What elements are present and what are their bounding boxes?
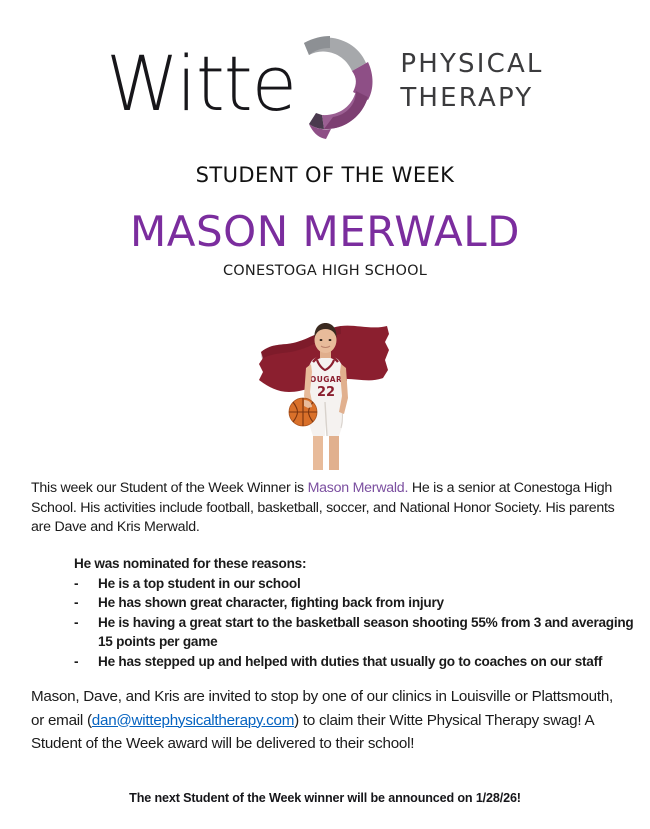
jersey-number: 22 — [317, 385, 335, 400]
intro-name-highlight: Mason Merwald. — [308, 480, 409, 496]
logo-wordmark-wrap: Witte — [106, 48, 302, 120]
dash-marker: - — [74, 593, 98, 613]
logo-swoosh-icon — [286, 29, 378, 141]
reasons-heading: He was nominated for these reasons: — [74, 554, 634, 574]
witte-logo: Witte — [0, 24, 650, 144]
dash-marker: - — [74, 574, 98, 594]
logo-wordmark: Witte — [106, 48, 296, 120]
student-photo: COUGARS 22 — [255, 312, 395, 470]
award-title: STUDENT OF THE WEEK — [0, 163, 650, 187]
reason-text: He is having a great start to the basket… — [98, 613, 634, 652]
list-item: - He is a top student in our school — [74, 574, 634, 594]
reason-text: He has stepped up and helped with duties… — [98, 652, 634, 672]
list-item: - He has shown great character, fighting… — [74, 593, 634, 613]
footer-announcement: The next Student of the Week winner will… — [0, 791, 650, 805]
student-name: MASON MERWALD — [0, 207, 650, 256]
reason-text: He has shown great character, fighting b… — [98, 593, 634, 613]
intro-part1: This week our Student of the Week Winner… — [31, 480, 308, 496]
school-name: CONESTOGA HIGH SCHOOL — [0, 263, 650, 279]
list-item: - He is having a great start to the bask… — [74, 613, 634, 652]
flyer-page: Witte — [0, 0, 650, 829]
logo-tagline-line1: PHYSICAL — [400, 47, 543, 81]
dash-marker: - — [74, 652, 98, 672]
nomination-reasons: He was nominated for these reasons: - He… — [74, 554, 634, 672]
dash-marker: - — [74, 613, 98, 633]
closing-paragraph: Mason, Dave, and Kris are invited to sto… — [31, 685, 623, 756]
logo-tagline: PHYSICAL THERAPY — [400, 47, 543, 122]
reason-text: He is a top student in our school — [98, 574, 634, 594]
email-link[interactable]: dan@wittephysicaltherapy.com — [92, 712, 294, 729]
intro-paragraph: This week our Student of the Week Winner… — [31, 479, 621, 538]
logo-tagline-line2: THERAPY — [400, 81, 543, 115]
list-item: - He has stepped up and helped with duti… — [74, 652, 634, 672]
